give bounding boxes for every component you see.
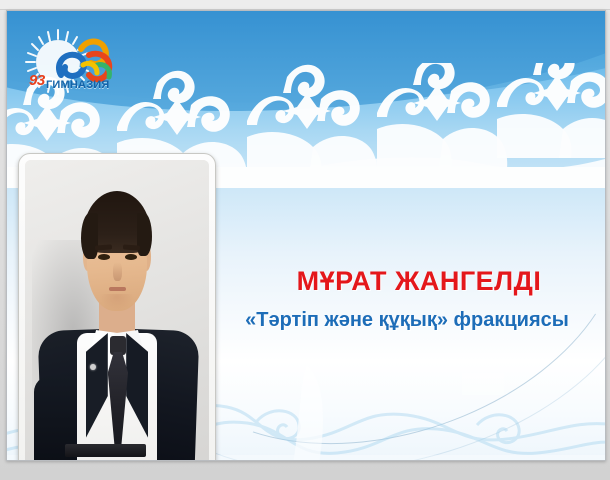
- portrait-frame: [18, 153, 216, 461]
- school-logo: 93 ГИМНАЗИЯ: [19, 27, 123, 103]
- belt: [65, 444, 146, 456]
- eyebrow-right: [123, 244, 140, 250]
- eye-left: [98, 254, 110, 260]
- chin: [100, 294, 133, 309]
- nose: [113, 262, 121, 281]
- faction-subtitle: «Тәртіп және құқық» фракциясы: [207, 309, 606, 332]
- logo-word: ГИМНАЗИЯ: [46, 79, 110, 91]
- person-name: МҰРАТ ЖАНГЕЛДІ: [239, 266, 599, 297]
- portrait-photo: [25, 160, 209, 461]
- logo-number: 93: [29, 72, 45, 89]
- slide-viewer: 93 ГИМНАЗИЯ: [0, 0, 610, 480]
- viewer-top-strip: [0, 0, 610, 10]
- presentation-slide: 93 ГИМНАЗИЯ: [6, 10, 606, 461]
- hair-side-left: [81, 213, 98, 259]
- mouth: [109, 287, 126, 292]
